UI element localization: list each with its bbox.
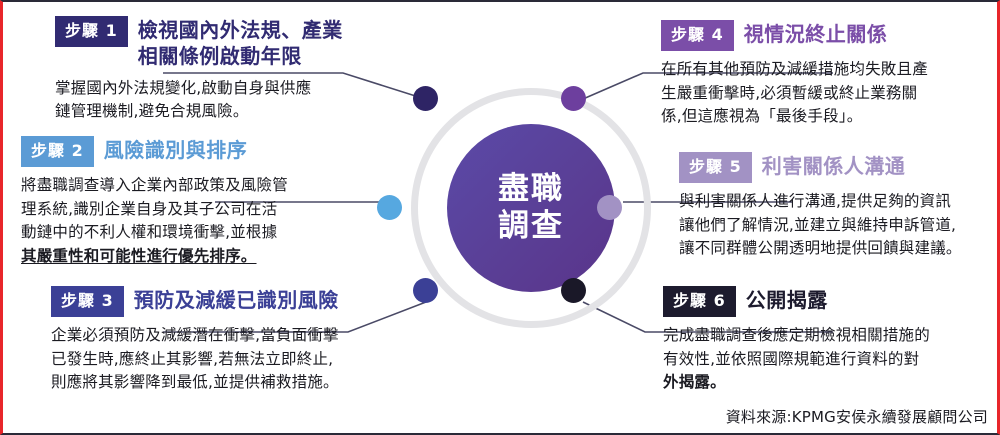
step-6-body-line-3: 外揭露。 (663, 373, 726, 391)
step-1-title-line-2: 相關條例啟動年限 (138, 44, 302, 68)
step-3-badge: 步驟 3 (51, 286, 124, 317)
source-note: 資料來源:KPMG安侯永續發展顧問公司 (643, 406, 988, 427)
step-2-body: 將盡職調查導入企業內部政策及風險管 理系統,識別企業自身及其子公司在活 動鏈中的… (21, 174, 351, 268)
node-step-6[interactable] (561, 278, 586, 303)
step-3-body: 企業必須預防及減緩潛在衝擊,當負面衝擊 已發生時,應終止其影響,若無法立即終止,… (51, 324, 381, 395)
node-step-4[interactable] (561, 86, 586, 111)
step-4-head: 步驟 4 視情況終止關係 (661, 20, 983, 51)
infographic-canvas: 盡職 調查 步驟 1 檢視國內外法規、產業 相關條例啟動年限 掌握國內外法規變化… (0, 0, 1000, 435)
step-2-body-line-4: 其嚴重性和可能性進行優先排序。 (21, 247, 257, 265)
step-4-body-line-2: 生嚴重衝擊時,必須暫緩或終止業務關 (661, 84, 917, 102)
step-4-body-line-1: 在所有其他預防及減緩措施均失敗且產 (661, 60, 928, 78)
step-2-body-line-2: 理系統,識別企業自身及其子公司在活 (21, 200, 277, 218)
core-label-line-1: 盡職 (498, 171, 564, 208)
step-1-title-line-1: 檢視國內外法規、產業 (138, 18, 343, 42)
core-label-line-2: 調查 (498, 208, 564, 245)
step-5-body-line-3: 讓不同群體公開透明地提供回饋與建議。 (679, 239, 962, 257)
step-1-head: 步驟 1 檢視國內外法規、產業 相關條例啟動年限 (55, 16, 375, 70)
step-2-badge: 步驟 2 (21, 136, 94, 167)
step-4-body: 在所有其他預防及減緩措施均失敗且產 生嚴重衝擊時,必須暫緩或終止業務關 係,但這… (661, 58, 983, 129)
step-block-4: 步驟 4 視情況終止關係 在所有其他預防及減緩措施均失敗且產 生嚴重衝擊時,必須… (661, 20, 983, 129)
step-1-body-line-2: 鏈管理機制,避免合規風險。 (55, 102, 249, 120)
step-1-title: 檢視國內外法規、產業 相關條例啟動年限 (138, 16, 343, 70)
step-3-title: 預防及減緩已識別風險 (134, 286, 339, 313)
step-5-badge: 步驟 5 (679, 152, 752, 183)
step-2-head: 步驟 2 風險識別與排序 (21, 136, 351, 167)
node-step-1[interactable] (413, 86, 438, 111)
step-3-body-line-1: 企業必須預防及減緩潛在衝擊,當負面衝擊 (51, 326, 339, 344)
step-4-badge: 步驟 4 (661, 20, 734, 51)
core-label: 盡職 調查 (498, 171, 564, 245)
center-diagram: 盡職 調查 (385, 62, 677, 354)
step-1-body-line-1: 掌握國內外法規變化,啟動自身與供應 (55, 79, 311, 97)
step-2-body-line-1: 將盡職調查導入企業內部政策及風險管 (21, 176, 288, 194)
diagram-core-circle: 盡職 調查 (447, 124, 615, 292)
step-5-body-line-2: 讓他們了解情況,並建立與維持申訴管道, (679, 216, 956, 234)
step-2-title: 風險識別與排序 (104, 136, 248, 163)
node-step-2[interactable] (377, 195, 402, 220)
step-6-body-line-1: 完成盡職調查後應定期檢視相關措施的 (663, 326, 930, 344)
step-block-6: 步驟 6 公開揭露 完成盡職調查後應定期檢視相關措施的 有效性,並依照國際規範進… (663, 286, 983, 395)
step-5-body: 與利害關係人進行溝通,提供足夠的資訊 讓他們了解情況,並建立與維持申訴管道, 讓… (679, 190, 989, 261)
step-block-1: 步驟 1 檢視國內外法規、產業 相關條例啟動年限 掌握國內外法規變化,啟動自身與… (55, 16, 375, 124)
step-4-title: 視情況終止關係 (744, 20, 888, 47)
step-6-body-line-2: 有效性,並依照國際規範進行資料的對 (663, 350, 919, 368)
step-6-body: 完成盡職調查後應定期檢視相關措施的 有效性,並依照國際規範進行資料的對 外揭露。 (663, 324, 983, 395)
step-2-body-line-3: 動鏈中的不利人權和環境衝擊,並根據 (21, 223, 277, 241)
step-1-badge: 步驟 1 (55, 16, 128, 47)
step-block-5: 步驟 5 利害關係人溝通 與利害關係人進行溝通,提供足夠的資訊 讓他們了解情況,… (679, 152, 989, 261)
step-block-2: 步驟 2 風險識別與排序 將盡職調查導入企業內部政策及風險管 理系統,識別企業自… (21, 136, 351, 268)
step-5-body-line-1: 與利害關係人進行溝通,提供足夠的資訊 (679, 192, 951, 210)
step-1-body: 掌握國內外法規變化,啟動自身與供應 鏈管理機制,避免合規風險。 (55, 77, 375, 124)
node-step-3[interactable] (413, 278, 438, 303)
node-step-5[interactable] (597, 195, 622, 220)
step-5-head: 步驟 5 利害關係人溝通 (679, 152, 989, 183)
step-4-body-line-3: 係,但這應視為「最後手段」。 (661, 107, 862, 125)
step-block-3: 步驟 3 預防及減緩已識別風險 企業必須預防及減緩潛在衝擊,當負面衝擊 已發生時… (51, 286, 381, 395)
step-6-title: 公開揭露 (746, 286, 828, 313)
step-3-head: 步驟 3 預防及減緩已識別風險 (51, 286, 381, 317)
step-3-body-line-2: 已發生時,應終止其影響,若無法立即終止, (51, 350, 333, 368)
step-3-body-line-3: 則應將其影響降到最低,並提供補救措施。 (51, 373, 339, 391)
step-6-badge: 步驟 6 (663, 286, 736, 317)
step-6-head: 步驟 6 公開揭露 (663, 286, 983, 317)
step-5-title: 利害關係人溝通 (762, 152, 906, 179)
